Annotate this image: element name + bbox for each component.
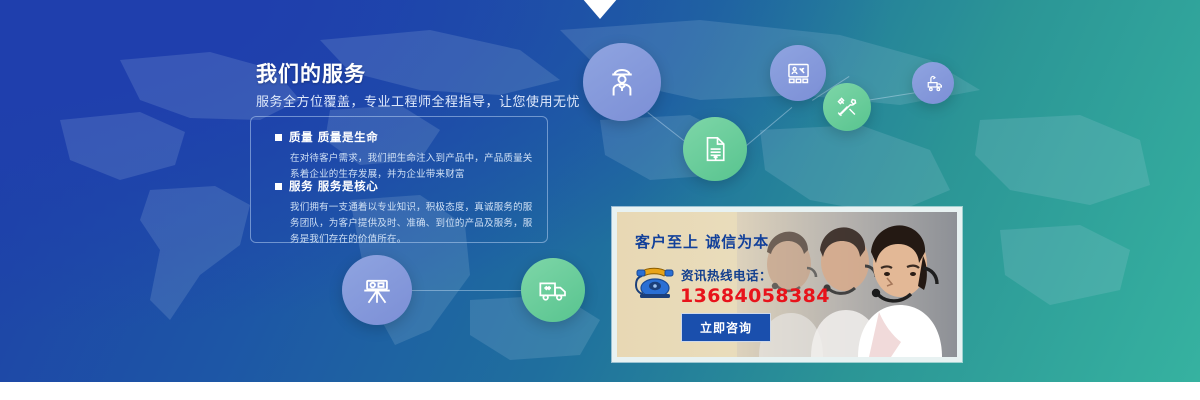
tools-hammer-wrench-icon	[835, 95, 859, 119]
node-engineer[interactable]	[583, 43, 661, 121]
bottom-white-strip	[0, 382, 1200, 400]
hotline-label: 资讯热线电话：	[681, 265, 772, 284]
document-upload-icon	[700, 134, 730, 164]
survey-tripod-icon	[360, 273, 394, 307]
service-flow-diagram	[0, 0, 1200, 382]
node-delivery-cart[interactable]	[912, 62, 954, 104]
connector-line	[410, 290, 530, 291]
telephone-icon	[631, 264, 679, 304]
node-document[interactable]	[683, 117, 747, 181]
node-training[interactable]	[770, 45, 826, 101]
contact-banner[interactable]: 客户至上 诚信为本 资讯热线电话： 13684058384 立即咨询	[612, 207, 962, 362]
banner-slogan: 客户至上 诚信为本	[635, 231, 769, 252]
training-board-icon	[785, 60, 812, 87]
consult-now-button[interactable]: 立即咨询	[681, 313, 771, 342]
node-survey-tripod[interactable]	[342, 255, 412, 325]
connector-line	[866, 91, 921, 101]
engineer-worker-icon	[604, 64, 640, 100]
service-section: 我们的服务 服务全方位覆盖，专业工程师全程指导，让您使用无忧 质量 质量是生命 …	[0, 0, 1200, 400]
contact-banner-inner: 客户至上 诚信为本 资讯热线电话： 13684058384 立即咨询	[617, 212, 957, 357]
hotline-number: 13684058384	[680, 285, 830, 307]
node-delivery-truck[interactable]	[521, 258, 585, 322]
node-tools[interactable]	[823, 83, 871, 131]
delivery-cart-icon	[923, 73, 944, 94]
delivery-truck-icon	[537, 274, 569, 306]
